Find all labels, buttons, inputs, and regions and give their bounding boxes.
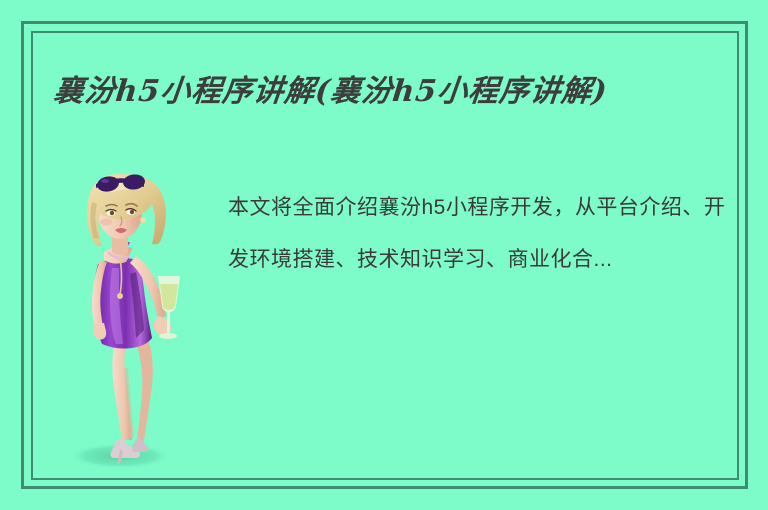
woman-with-champagne-illustration [58,168,206,470]
far-leg [134,335,153,447]
champagne-flute-stem [167,312,170,334]
sunglasses-glare [101,179,109,183]
far-shoe [132,436,148,452]
page-title: 襄汾h5小程序讲解(襄汾h5小程序讲解) [52,66,727,110]
pupil-left [110,211,114,215]
blush-left [100,219,112,226]
left-hand [93,323,106,340]
necklace-pendant [117,293,123,299]
article-cover-card: 襄汾h5小程序讲解(襄汾h5小程序讲解) 本文将全面介绍襄汾h5小程序开发，从平… [0,0,768,510]
article-summary: 本文将全面介绍襄汾h5小程序开发，从平台介绍、开发环境搭建、技术知识学习、商业化… [228,182,726,286]
champagne-flute-base [159,333,177,339]
earring [140,217,146,223]
pupil-right [130,210,134,214]
